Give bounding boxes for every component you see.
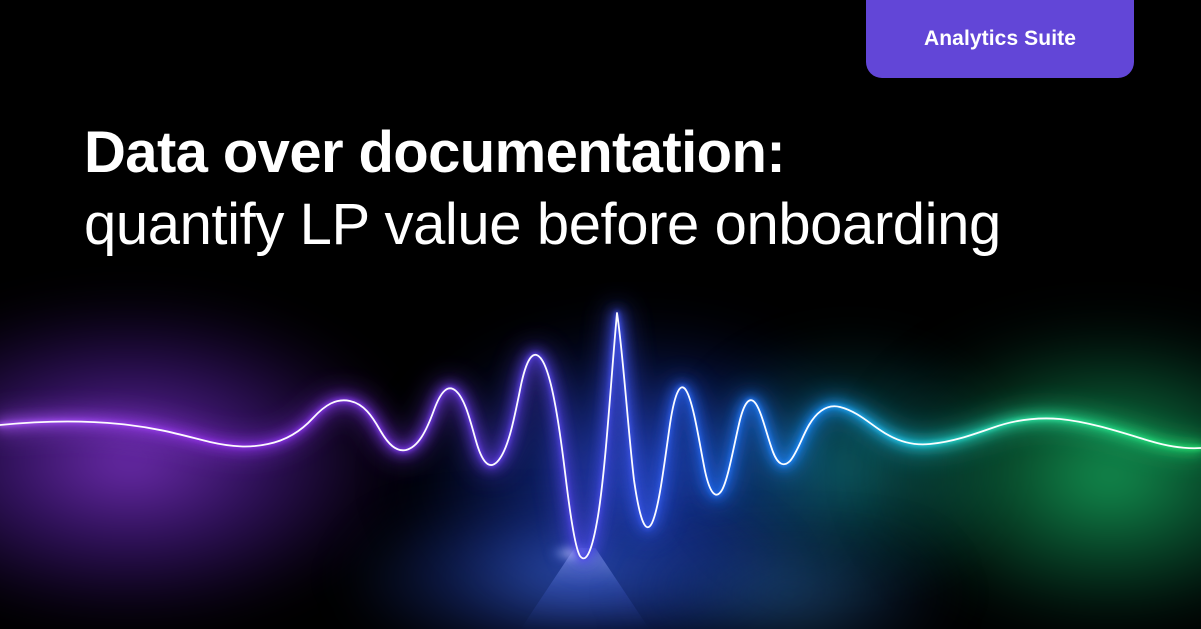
headline-line-2: quantify LP value before onboarding bbox=[84, 190, 1144, 261]
analytics-suite-badge[interactable]: Analytics Suite bbox=[866, 0, 1134, 78]
badge-label: Analytics Suite bbox=[924, 27, 1076, 51]
hero-banner: Analytics Suite Data over documentation:… bbox=[0, 0, 1201, 629]
headline-line-1: Data over documentation: bbox=[84, 118, 1144, 189]
waveform-graphic bbox=[0, 0, 1201, 629]
headline-block: Data over documentation: quantify LP val… bbox=[84, 118, 1144, 261]
